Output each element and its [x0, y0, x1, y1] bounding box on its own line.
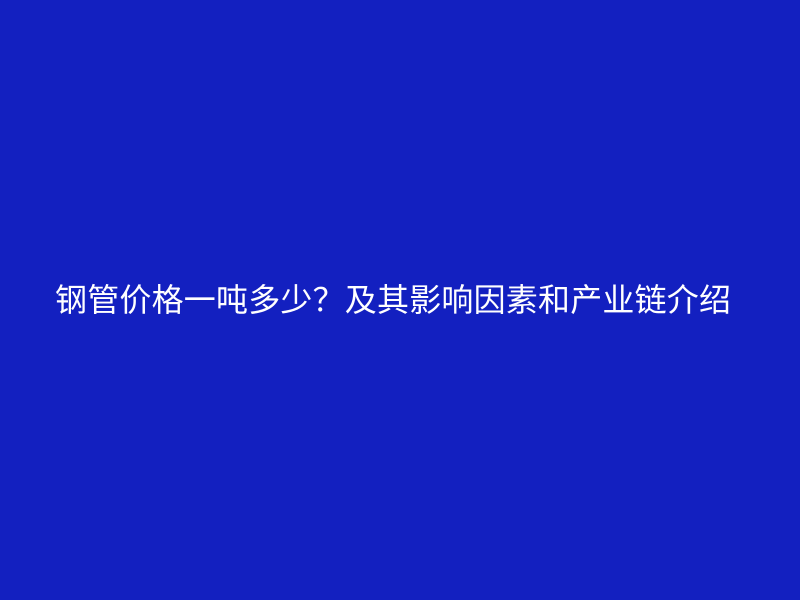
headline-row: 钢管价格一吨多少？及其影响因素和产业链介绍: [0, 0, 800, 600]
page-title: 钢管价格一吨多少？及其影响因素和产业链介绍: [55, 281, 731, 319]
title-card: 钢管价格一吨多少？及其影响因素和产业链介绍: [0, 0, 800, 600]
